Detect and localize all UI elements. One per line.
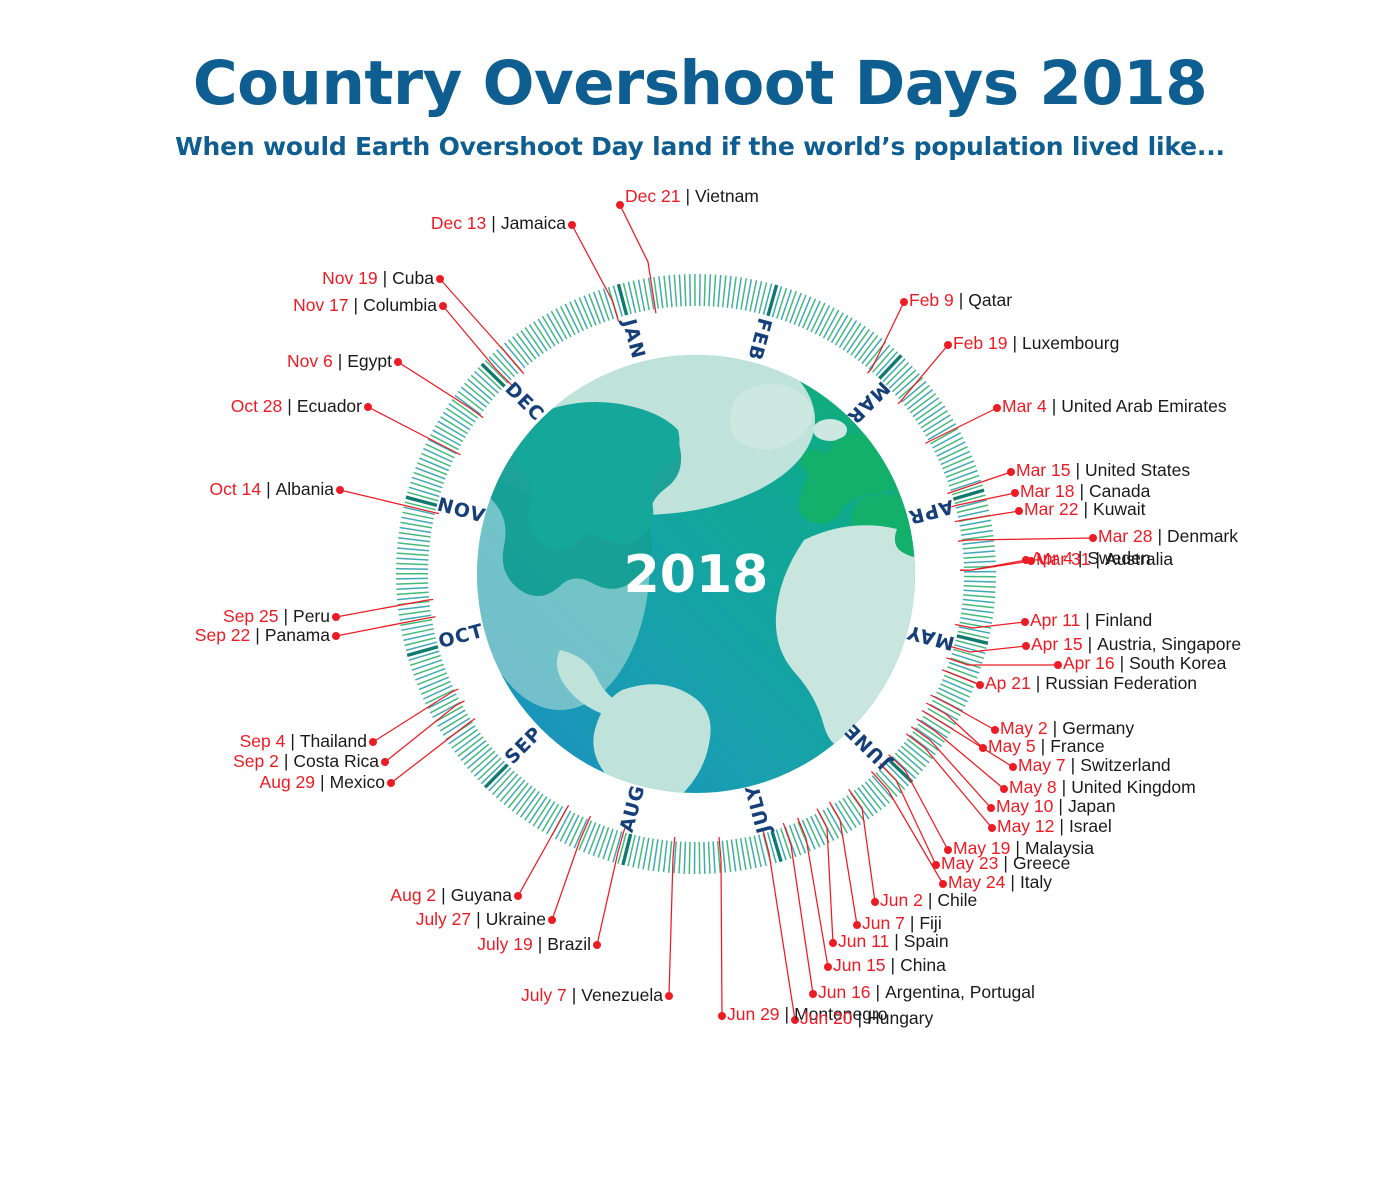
- label-separator: |: [491, 213, 496, 233]
- day-tick: [781, 290, 791, 320]
- label-date: July 27: [416, 909, 471, 929]
- country-label: May 24|Italy: [948, 874, 1052, 892]
- country-label: Mar 15|United States: [1016, 462, 1190, 480]
- label-anchor-dot: [593, 941, 601, 949]
- month-label-nov: NOV: [435, 494, 488, 528]
- day-tick: [659, 276, 663, 308]
- label-country: Luxembourg: [1022, 333, 1119, 353]
- label-separator: |: [354, 295, 359, 315]
- footer: EARTH OVERSHOOT DAY Source: Global Footp…: [0, 1048, 1400, 1188]
- country-label: Mar 22|Kuwait: [1024, 501, 1146, 519]
- day-tick: [964, 556, 996, 558]
- country-label: Oct 14|Albania: [0, 481, 334, 499]
- label-country: Brazil: [547, 934, 591, 954]
- day-tick: [727, 276, 731, 308]
- label-anchor-dot: [381, 758, 389, 766]
- label-anchor-dot: [1015, 507, 1023, 515]
- label-date: Dec 21: [625, 186, 680, 206]
- country-label: Jun 15|China: [833, 957, 946, 975]
- label-separator: |: [785, 1004, 790, 1024]
- label-date: May 5: [988, 736, 1036, 756]
- label-separator: |: [959, 290, 964, 310]
- country-label: Ap 21|Russian Federation: [985, 675, 1197, 693]
- country-label: Sep 22|Panama: [0, 627, 330, 645]
- label-anchor-dot: [1089, 534, 1097, 542]
- day-tick: [398, 606, 430, 610]
- label-date: Ap 21: [985, 673, 1031, 693]
- day-tick: [960, 520, 992, 526]
- day-tick: [419, 458, 449, 470]
- day-tick: [963, 546, 995, 549]
- label-anchor-dot: [514, 892, 522, 900]
- day-tick: [603, 829, 613, 860]
- label-date: Aug 29: [260, 772, 315, 792]
- label-separator: |: [910, 913, 915, 933]
- day-tick: [412, 660, 442, 670]
- label-anchor-dot: [1021, 618, 1029, 626]
- label-date: Jun 29: [727, 1004, 780, 1024]
- label-anchor-dot: [439, 302, 447, 310]
- label-country: United Arab Emirates: [1061, 396, 1226, 416]
- label-anchor-dot: [616, 201, 624, 209]
- day-tick: [948, 471, 978, 482]
- label-anchor-dot: [1054, 661, 1062, 669]
- label-country: Japan: [1068, 796, 1116, 816]
- country-label: Dec 13|Jamaica: [0, 215, 566, 233]
- label-country: Mexico: [330, 772, 385, 792]
- label-anchor-dot: [1009, 763, 1017, 771]
- country-label: May 19|Malaysia: [953, 840, 1094, 858]
- leader-line: [871, 771, 943, 884]
- label-country: Cuba: [392, 268, 434, 288]
- day-tick: [648, 839, 653, 871]
- day-tick: [412, 477, 442, 487]
- month-label-jan: JAN: [617, 315, 649, 362]
- day-tick: [741, 278, 746, 310]
- day-tick: [608, 830, 617, 861]
- day-tick: [396, 583, 428, 584]
- day-tick: [589, 294, 600, 324]
- label-country: Malaysia: [1025, 838, 1094, 858]
- label-country: Ukraine: [486, 909, 546, 929]
- label-country: Russian Federation: [1045, 673, 1197, 693]
- day-tick: [414, 473, 444, 484]
- label-separator: |: [1015, 838, 1020, 858]
- label-date: Mar 18: [1020, 481, 1074, 501]
- day-tick: [962, 609, 994, 613]
- day-tick: [599, 290, 609, 320]
- leader-line: [440, 279, 524, 374]
- label-country: Switzerland: [1080, 755, 1170, 775]
- country-label: Sep 4|Thailand: [0, 733, 367, 751]
- leader-line: [572, 225, 619, 322]
- day-tick: [794, 295, 806, 325]
- label-date: Jun 11: [838, 931, 889, 951]
- label-anchor-dot: [394, 358, 402, 366]
- label-separator: |: [338, 351, 343, 371]
- label-date: May 2: [1000, 718, 1048, 738]
- day-tick: [962, 541, 994, 545]
- label-separator: |: [572, 985, 577, 1005]
- day-tick: [790, 293, 801, 323]
- leader-line: [849, 789, 875, 902]
- label-separator: |: [1120, 653, 1125, 673]
- label-anchor-dot: [1000, 785, 1008, 793]
- label-date: Jun 2: [880, 890, 923, 910]
- label-country: Argentina, Portugal: [885, 982, 1035, 1002]
- label-separator: |: [284, 751, 289, 771]
- month-label-dec: DEC: [501, 378, 549, 426]
- label-date: Nov 17: [293, 295, 348, 315]
- label-date: Mar 22: [1024, 499, 1078, 519]
- day-tick: [397, 592, 429, 594]
- day-tick: [961, 613, 993, 618]
- day-tick: [399, 611, 431, 615]
- label-separator: |: [1088, 634, 1093, 654]
- day-tick: [798, 822, 810, 852]
- day-tick: [704, 274, 705, 306]
- month-label-sep: SEP: [501, 722, 547, 768]
- day-tick: [960, 618, 992, 623]
- label-anchor-dot: [369, 738, 377, 746]
- label-country: Fiji: [919, 913, 941, 933]
- label-separator: |: [894, 931, 899, 951]
- label-date: Mar 15: [1016, 460, 1070, 480]
- day-tick: [964, 590, 996, 592]
- day-tick: [644, 279, 650, 311]
- day-tick: [669, 841, 672, 873]
- month-label-july: JULY: [741, 782, 776, 837]
- country-label: Dec 21|Vietnam: [625, 188, 759, 206]
- day-tick: [963, 551, 995, 554]
- label-anchor-dot: [993, 404, 1001, 412]
- label-anchor-dot: [829, 939, 837, 947]
- country-label: Jun 2|Chile: [880, 892, 977, 910]
- label-anchor-dot: [1022, 642, 1030, 650]
- label-country: Canada: [1089, 481, 1150, 501]
- day-tick: [714, 275, 716, 307]
- day-tick: [736, 277, 741, 309]
- day-tick: [396, 558, 428, 560]
- day-tick: [679, 842, 681, 874]
- leader-line: [391, 719, 475, 783]
- country-label: Aug 2|Guyana: [0, 887, 512, 905]
- label-country: Qatar: [968, 290, 1012, 310]
- label-separator: |: [383, 268, 388, 288]
- leader-line: [868, 302, 905, 373]
- day-tick: [674, 275, 676, 307]
- label-country: Guyana: [451, 885, 512, 905]
- label-anchor-dot: [665, 992, 673, 1000]
- label-separator: |: [255, 625, 260, 645]
- leader-line: [958, 538, 1093, 541]
- day-tick: [398, 538, 430, 542]
- day-tick: [584, 296, 596, 326]
- country-label: Nov 19|Cuba: [0, 270, 434, 288]
- label-country: Kuwait: [1093, 499, 1146, 519]
- day-tick: [396, 588, 428, 590]
- day-tick: [684, 842, 685, 874]
- label-date: Oct 14: [210, 479, 262, 499]
- day-tick: [396, 578, 428, 579]
- label-anchor-dot: [387, 779, 395, 787]
- label-country: Germany: [1062, 718, 1134, 738]
- label-separator: |: [928, 890, 933, 910]
- day-tick: [410, 656, 441, 666]
- month-label-feb: FEB: [743, 316, 775, 364]
- label-anchor-dot: [976, 681, 984, 689]
- label-country: Ecuador: [297, 396, 362, 416]
- label-separator: |: [1053, 718, 1058, 738]
- label-anchor-dot: [336, 486, 344, 494]
- label-anchor-dot: [1011, 489, 1019, 497]
- label-date: Aug 2: [390, 885, 436, 905]
- label-anchor-dot: [987, 804, 995, 812]
- globe-year-label: 2018: [624, 545, 769, 605]
- day-tick: [963, 595, 995, 598]
- day-tick: [961, 525, 993, 530]
- country-label: May 10|Japan: [996, 798, 1116, 816]
- day-tick: [741, 838, 746, 870]
- day-tick: [589, 824, 601, 854]
- label-separator: |: [320, 772, 325, 792]
- leader-line: [955, 511, 1019, 522]
- day-tick: [689, 842, 690, 874]
- day-tick: [964, 581, 996, 582]
- country-label: Apr 15|Austria, Singapore: [1031, 636, 1241, 654]
- label-country: China: [900, 955, 946, 975]
- country-label: May 12|Israel: [997, 818, 1112, 836]
- label-anchor-dot: [568, 221, 576, 229]
- country-label: July 19|Brazil: [0, 936, 591, 954]
- label-date: July 7: [521, 985, 567, 1005]
- label-date: July 19: [477, 934, 532, 954]
- country-label: May 2|Germany: [1000, 720, 1134, 738]
- label-date: Dec 13: [431, 213, 486, 233]
- label-anchor-dot: [932, 861, 940, 869]
- month-label-oct: OCT: [436, 620, 486, 653]
- day-tick: [732, 277, 736, 309]
- label-separator: |: [685, 186, 690, 206]
- label-date: Sep 2: [233, 751, 279, 771]
- label-separator: |: [290, 731, 295, 751]
- day-tick: [414, 664, 444, 675]
- day-tick: [718, 275, 721, 307]
- day-tick: [961, 531, 993, 536]
- month-boundary-tick: [772, 831, 781, 862]
- day-tick: [664, 840, 667, 872]
- country-label: Jun 16|Argentina, Portugal: [818, 984, 1035, 1002]
- country-label: July 7|Venezuela: [0, 987, 663, 1005]
- day-tick: [594, 292, 605, 322]
- day-tick: [709, 274, 711, 306]
- label-country: Australia: [1105, 549, 1173, 569]
- country-label: May 7|Switzerland: [1018, 757, 1171, 775]
- label-separator: |: [1041, 736, 1046, 756]
- label-anchor-dot: [809, 990, 817, 998]
- country-label: Mar 18|Canada: [1020, 483, 1150, 501]
- country-label: Apr 11|Finland: [1030, 612, 1152, 630]
- day-tick: [946, 466, 976, 478]
- day-tick: [709, 842, 711, 874]
- label-anchor-dot: [900, 298, 908, 306]
- day-tick: [781, 828, 791, 858]
- label-separator: |: [1062, 777, 1067, 797]
- label-separator: |: [1071, 755, 1076, 775]
- label-country: Albania: [276, 479, 334, 499]
- leader-line: [620, 205, 656, 313]
- label-country: Austria, Singapore: [1097, 634, 1241, 654]
- day-tick: [415, 669, 445, 680]
- wheel-svg: 2018 JANFEBMARAPRMAYJUNEJULYAUGSEPOCTNOV…: [0, 0, 1400, 1200]
- day-tick: [944, 675, 974, 687]
- day-tick: [794, 824, 806, 854]
- country-label: Nov 6|Egypt: [0, 353, 392, 371]
- leader-line: [817, 809, 833, 943]
- leader-line: [898, 345, 948, 404]
- country-label: May 5|France: [988, 738, 1105, 756]
- month-label-may: MAY: [904, 620, 957, 654]
- country-label: Jun 11|Spain: [838, 933, 949, 951]
- label-country: Costa Rica: [293, 751, 379, 771]
- label-date: Nov 6: [287, 351, 333, 371]
- country-label: Nov 17|Columbia: [0, 297, 437, 315]
- label-country: South Korea: [1129, 653, 1226, 673]
- day-tick: [658, 840, 662, 872]
- label-separator: |: [287, 396, 292, 416]
- label-date: Feb 9: [909, 290, 954, 310]
- label-separator: |: [283, 606, 288, 626]
- label-anchor-dot: [332, 613, 340, 621]
- label-separator: |: [441, 885, 446, 905]
- day-tick: [679, 275, 681, 307]
- day-tick: [786, 291, 797, 321]
- label-separator: |: [1079, 481, 1084, 501]
- month-label-june: JUNE: [840, 719, 896, 775]
- day-tick: [417, 673, 447, 685]
- label-separator: |: [1058, 796, 1063, 816]
- label-country: Venezuela: [581, 985, 663, 1005]
- day-tick: [962, 604, 994, 608]
- day-tick: [713, 842, 715, 874]
- month-boundary-tick: [407, 647, 438, 656]
- label-country: France: [1050, 736, 1104, 756]
- label-date: Sep 22: [195, 625, 250, 645]
- label-anchor-dot: [548, 916, 556, 924]
- label-date: Jun 7: [862, 913, 905, 933]
- label-separator: |: [876, 982, 881, 1002]
- country-label: Oct 28|Ecuador: [0, 398, 362, 416]
- label-date: Sep 25: [223, 606, 278, 626]
- infographic-page: Country Overshoot Days 2018 When would E…: [0, 0, 1400, 1200]
- label-date: May 12: [997, 816, 1054, 836]
- month-label-aug: AUG: [616, 782, 650, 834]
- day-tick: [598, 827, 608, 857]
- country-label: Sep 25|Peru: [0, 608, 330, 626]
- label-date: Jun 16: [818, 982, 871, 1002]
- leader-line: [398, 362, 483, 418]
- day-tick: [593, 826, 604, 856]
- day-tick: [723, 276, 726, 308]
- month-label-apr: APR: [906, 495, 956, 528]
- country-label: Feb 19|Luxembourg: [953, 335, 1119, 353]
- label-country: Jamaica: [501, 213, 566, 233]
- label-separator: |: [1012, 333, 1017, 353]
- day-tick: [613, 832, 622, 863]
- label-separator: |: [1157, 526, 1162, 546]
- label-date: May 8: [1009, 777, 1057, 797]
- label-anchor-dot: [853, 921, 861, 929]
- day-tick: [722, 841, 725, 873]
- day-tick: [396, 564, 428, 565]
- label-date: Apr 11: [1030, 610, 1080, 630]
- label-date: May 24: [948, 872, 1005, 892]
- label-anchor-dot: [871, 898, 879, 906]
- label-separator: |: [538, 934, 543, 954]
- day-tick: [790, 825, 801, 855]
- country-label: Mar 31|Australia: [1036, 551, 1173, 569]
- label-anchor-dot: [939, 880, 947, 888]
- country-label: Mar 4|United Arab Emirates: [1002, 398, 1227, 416]
- day-tick: [398, 543, 430, 546]
- label-date: Nov 19: [322, 268, 377, 288]
- day-tick: [777, 288, 787, 319]
- day-tick: [416, 468, 446, 479]
- label-country: Denmark: [1167, 526, 1238, 546]
- label-separator: |: [1095, 549, 1100, 569]
- label-anchor-dot: [718, 1012, 726, 1020]
- label-date: May 19: [953, 838, 1010, 858]
- label-date: Jun 20: [800, 1008, 853, 1028]
- leader-line: [798, 818, 829, 967]
- label-country: Columbia: [363, 295, 437, 315]
- country-label: Jun 20|Hungary: [800, 1010, 933, 1028]
- label-separator: |: [1075, 460, 1080, 480]
- label-country: Vietnam: [695, 186, 759, 206]
- label-date: May 10: [996, 796, 1053, 816]
- label-separator: |: [1052, 396, 1057, 416]
- label-country: Panama: [265, 625, 330, 645]
- day-tick: [704, 842, 705, 874]
- label-separator: |: [266, 479, 271, 499]
- leader-line: [597, 828, 625, 945]
- label-date: Mar 31: [1036, 549, 1090, 569]
- label-anchor-dot: [364, 403, 372, 411]
- label-anchor-dot: [979, 744, 987, 752]
- label-separator: |: [1010, 872, 1015, 892]
- day-tick: [410, 482, 440, 492]
- label-date: May 7: [1018, 755, 1066, 775]
- label-date: Oct 28: [231, 396, 283, 416]
- day-tick: [964, 586, 996, 587]
- country-label: Jun 7|Fiji: [862, 915, 942, 933]
- leader-line: [946, 658, 1058, 665]
- day-tick: [963, 600, 995, 603]
- label-anchor-dot: [436, 275, 444, 283]
- day-tick: [401, 522, 433, 528]
- label-date: Apr 15: [1031, 634, 1083, 654]
- day-tick: [397, 553, 429, 555]
- label-anchor-dot: [944, 341, 952, 349]
- country-label: Mar 28|Denmark: [1098, 528, 1238, 546]
- label-country: Spain: [904, 931, 949, 951]
- day-tick: [397, 597, 429, 600]
- day-tick: [664, 276, 667, 308]
- day-tick: [951, 480, 981, 490]
- day-tick: [397, 548, 429, 551]
- label-separator: |: [1085, 610, 1090, 630]
- day-tick: [417, 463, 447, 475]
